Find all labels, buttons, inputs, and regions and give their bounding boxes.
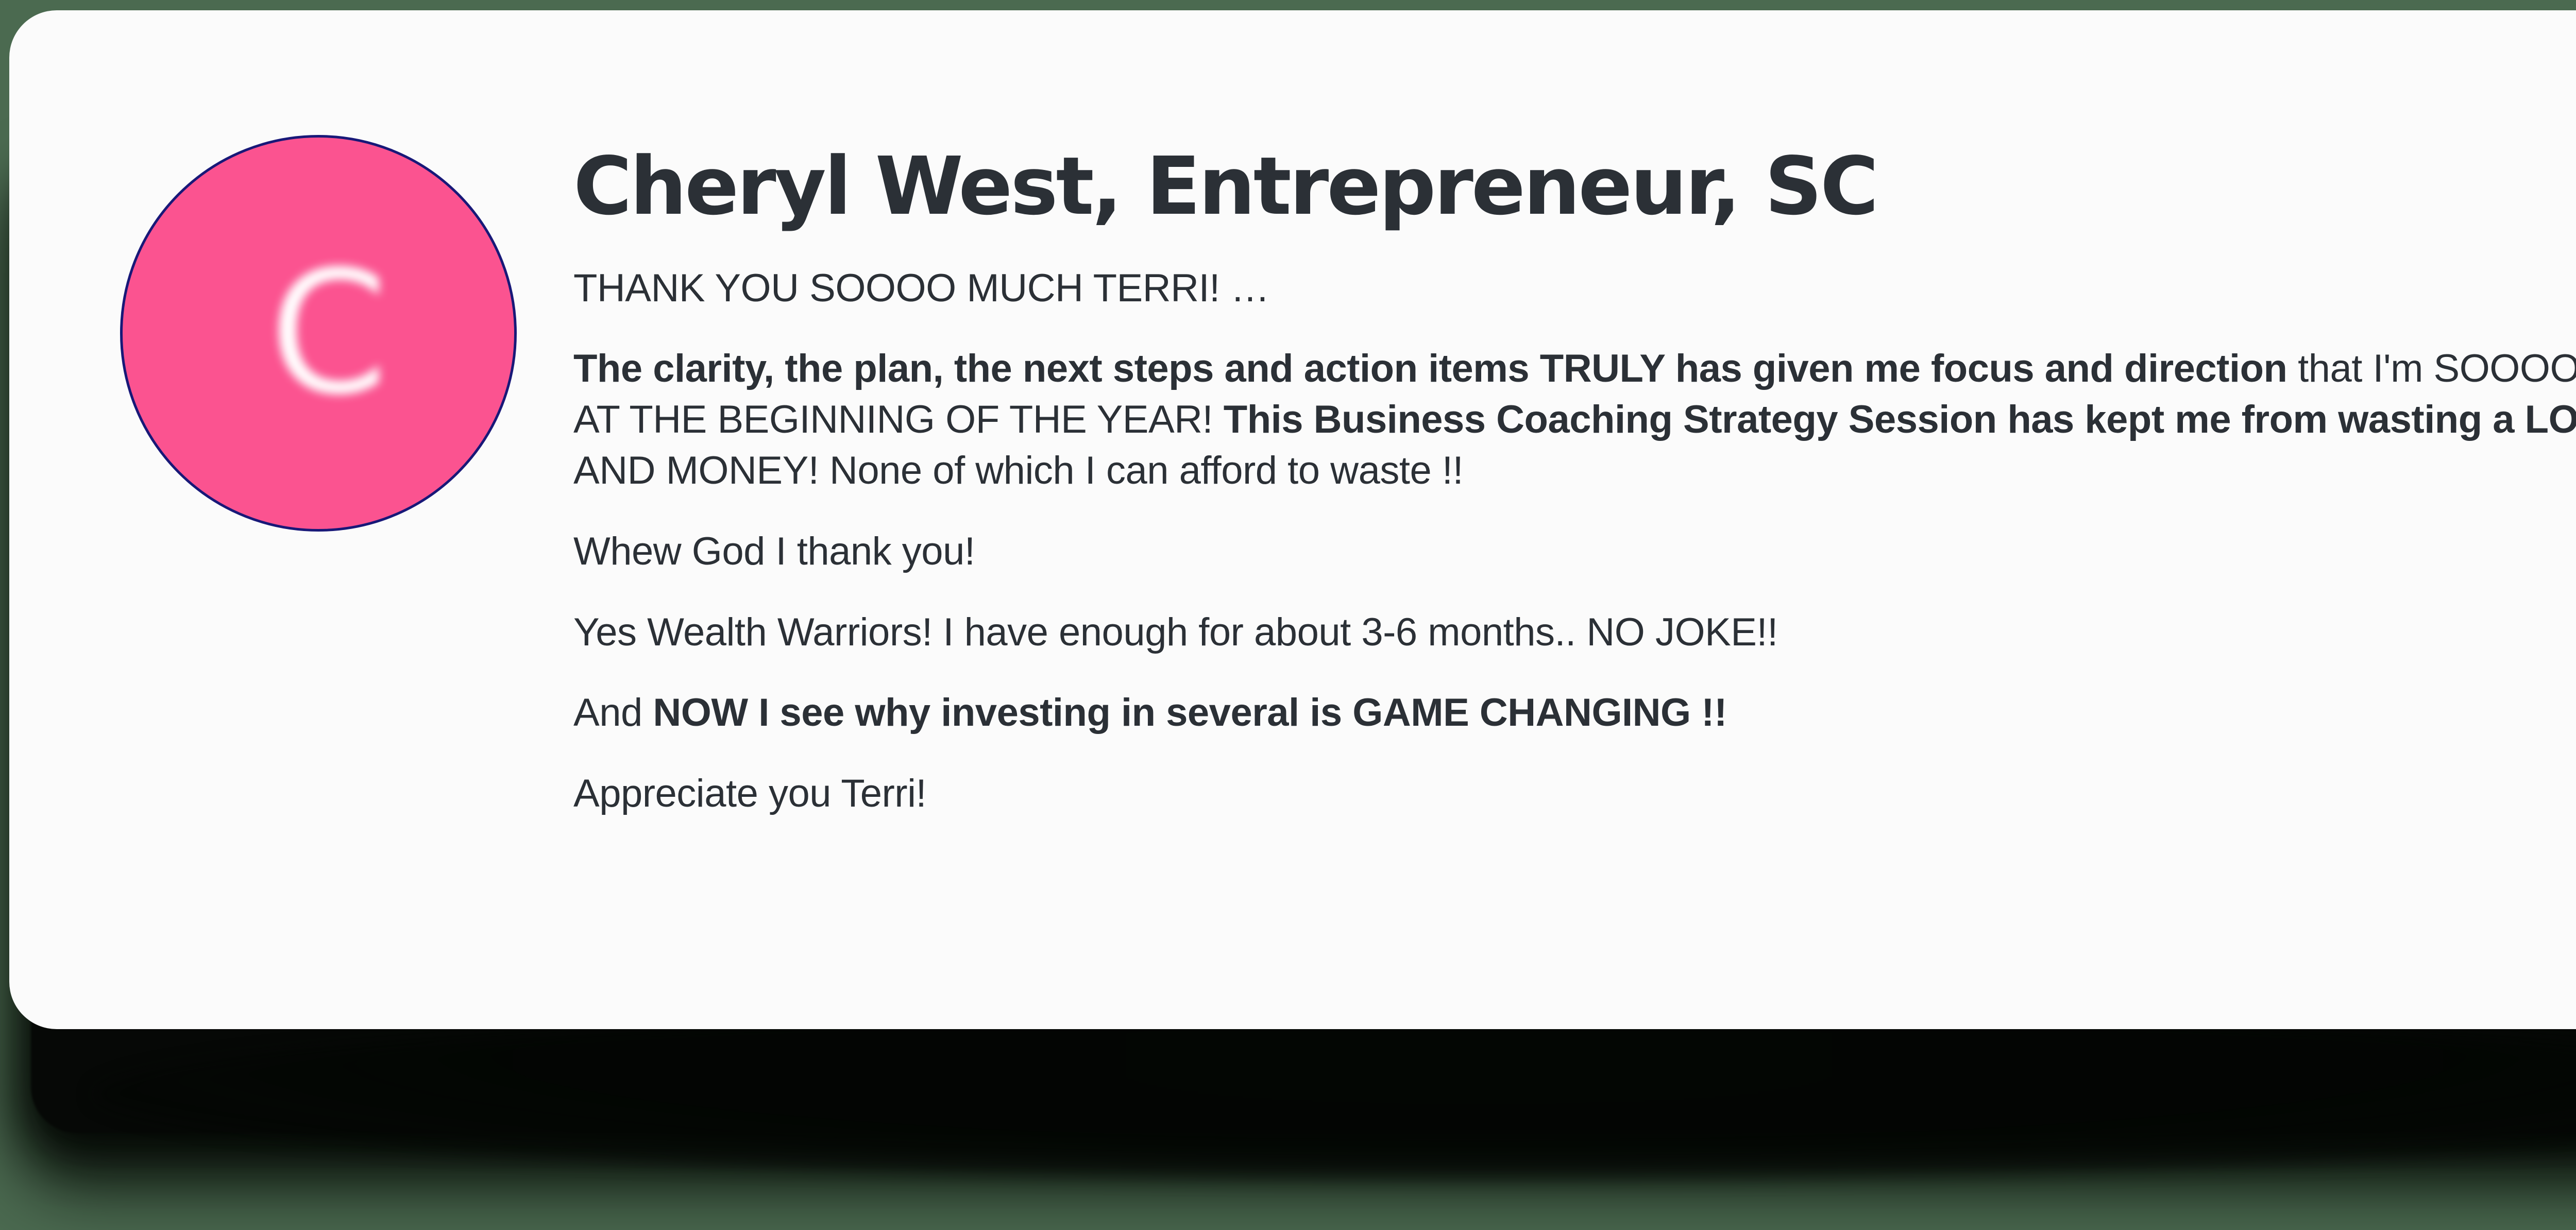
body-text: AND MONEY! None of which I can afford to… (573, 449, 1463, 492)
avatar-initial: C (123, 138, 514, 529)
testimonial-card-inner: C Cheryl West, Entrepreneur, SC THANK YO… (9, 10, 2576, 1029)
testimonial-paragraph: THANK YOU SOOOO MUCH TERRI! … (573, 263, 2576, 314)
testimonial-stage: C Cheryl West, Entrepreneur, SC THANK YO… (0, 0, 2576, 1230)
body-text: THANK YOU SOOOO MUCH TERRI! … (573, 266, 1269, 310)
emphasis-text: The clarity, the plan, the next steps an… (573, 347, 2287, 390)
testimonial-paragraph: And NOW I see why investing in several i… (573, 688, 2576, 739)
testimonial-body: THANK YOU SOOOO MUCH TERRI! …The clarity… (573, 263, 2576, 819)
emphasis-text: This Business Coaching Strategy Session … (1224, 398, 2576, 441)
avatar: C (120, 135, 517, 532)
body-text: Appreciate you Terri! (573, 772, 926, 815)
testimonial-card: C Cheryl West, Entrepreneur, SC THANK YO… (9, 10, 2576, 1029)
testimonial-paragraph: The clarity, the plan, the next steps an… (573, 344, 2576, 496)
testimonial-paragraph: Appreciate you Terri! (573, 768, 2576, 819)
testimonial-paragraph: Whew God I thank you! (573, 526, 2576, 577)
testimonial-content: Cheryl West, Entrepreneur, SC THANK YOU … (573, 142, 2576, 819)
body-text: Whew God I thank you! (573, 529, 975, 573)
body-text: Yes Wealth Warriors! I have enough for a… (573, 610, 1778, 654)
body-text: And (573, 691, 653, 734)
emphasis-text: NOW I see why investing in several is GA… (653, 691, 1727, 734)
testimonial-paragraph: Yes Wealth Warriors! I have enough for a… (573, 607, 2576, 658)
testimonial-author-title: Cheryl West, Entrepreneur, SC (573, 142, 2576, 231)
